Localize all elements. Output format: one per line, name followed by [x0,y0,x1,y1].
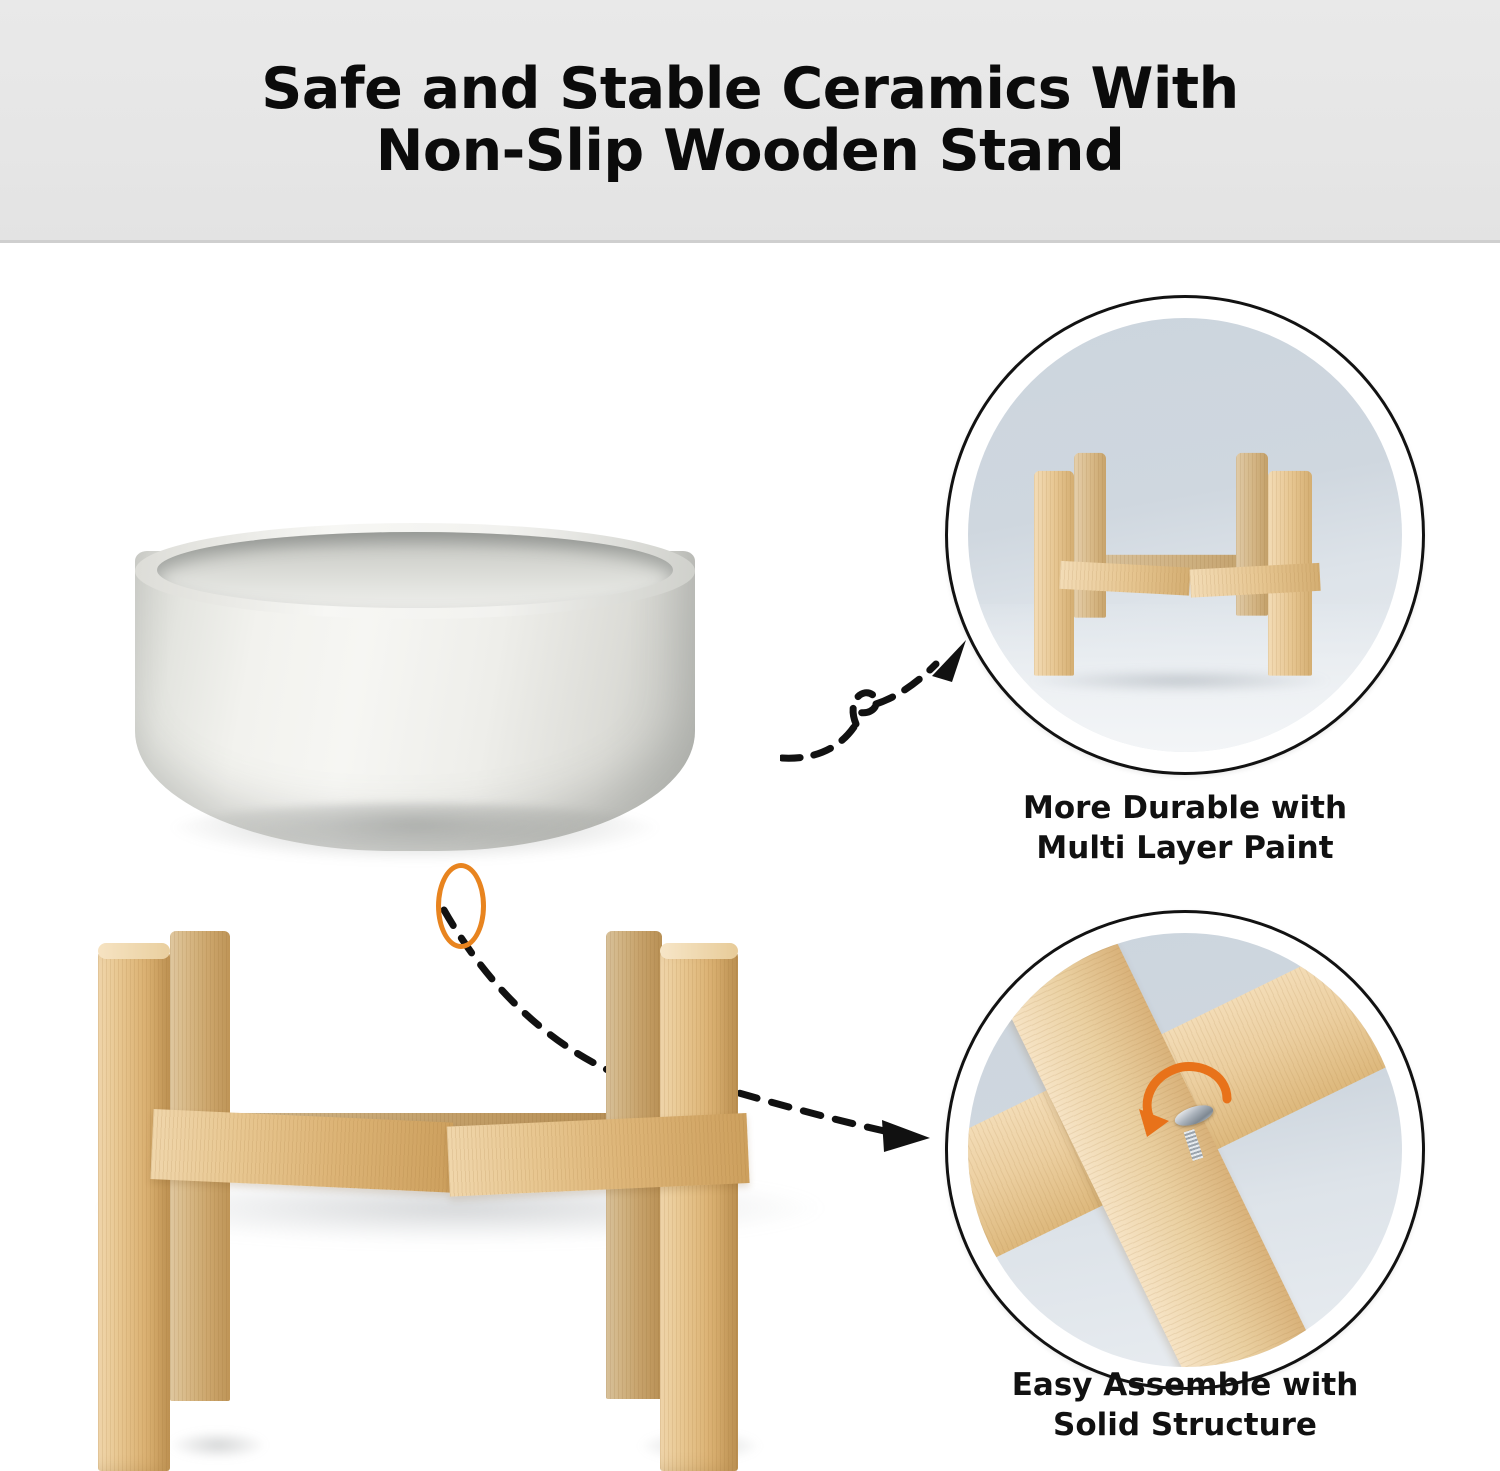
pot-rim-opening [157,532,673,608]
main-product-photo [60,513,860,1253]
content-stage: More Durable with Multi Layer Paint Easy [0,243,1500,1464]
callout-circle-durable-paint [945,295,1425,775]
rotation-arrow-icon [1131,1059,1239,1151]
mini-leg-back-left [1074,453,1106,618]
stand-leg-front-left-top [98,943,170,959]
caption-durable-line-2: Multi Layer Paint [945,828,1425,868]
caption-durable-line-1: More Durable with [945,788,1425,828]
callout-circle-easy-assemble [945,910,1425,1390]
caption-assemble-line-1: Easy Assemble with [945,1365,1425,1405]
pot-base-shadow [165,803,665,863]
stand-leg-front-left [98,945,170,1471]
caption-durable-paint: More Durable with Multi Layer Paint [945,788,1425,868]
joint-closeup [968,933,1402,1367]
callout-photo-joint-closeup [968,933,1402,1367]
leg-shadow-left [170,1431,266,1459]
ceramic-pot [135,523,695,868]
mini-wooden-stand [1020,423,1350,678]
caption-easy-assemble: Easy Assemble with Solid Structure [945,1365,1425,1445]
stand-leg-front-right [660,945,738,1471]
header-banner: Safe and Stable Ceramics With Non-Slip W… [0,0,1500,243]
cross-beam-right [447,1113,750,1197]
page-title-line-2: Non-Slip Wooden Stand [376,120,1125,182]
stand-leg-front-right-top [660,943,738,959]
caption-assemble-line-2: Solid Structure [945,1405,1425,1445]
cross-beam-left [150,1109,453,1193]
callout-photo-stand-only [968,318,1402,752]
page-title-line-1: Safe and Stable Ceramics With [261,58,1238,120]
joint-highlight-ellipse [436,863,486,949]
